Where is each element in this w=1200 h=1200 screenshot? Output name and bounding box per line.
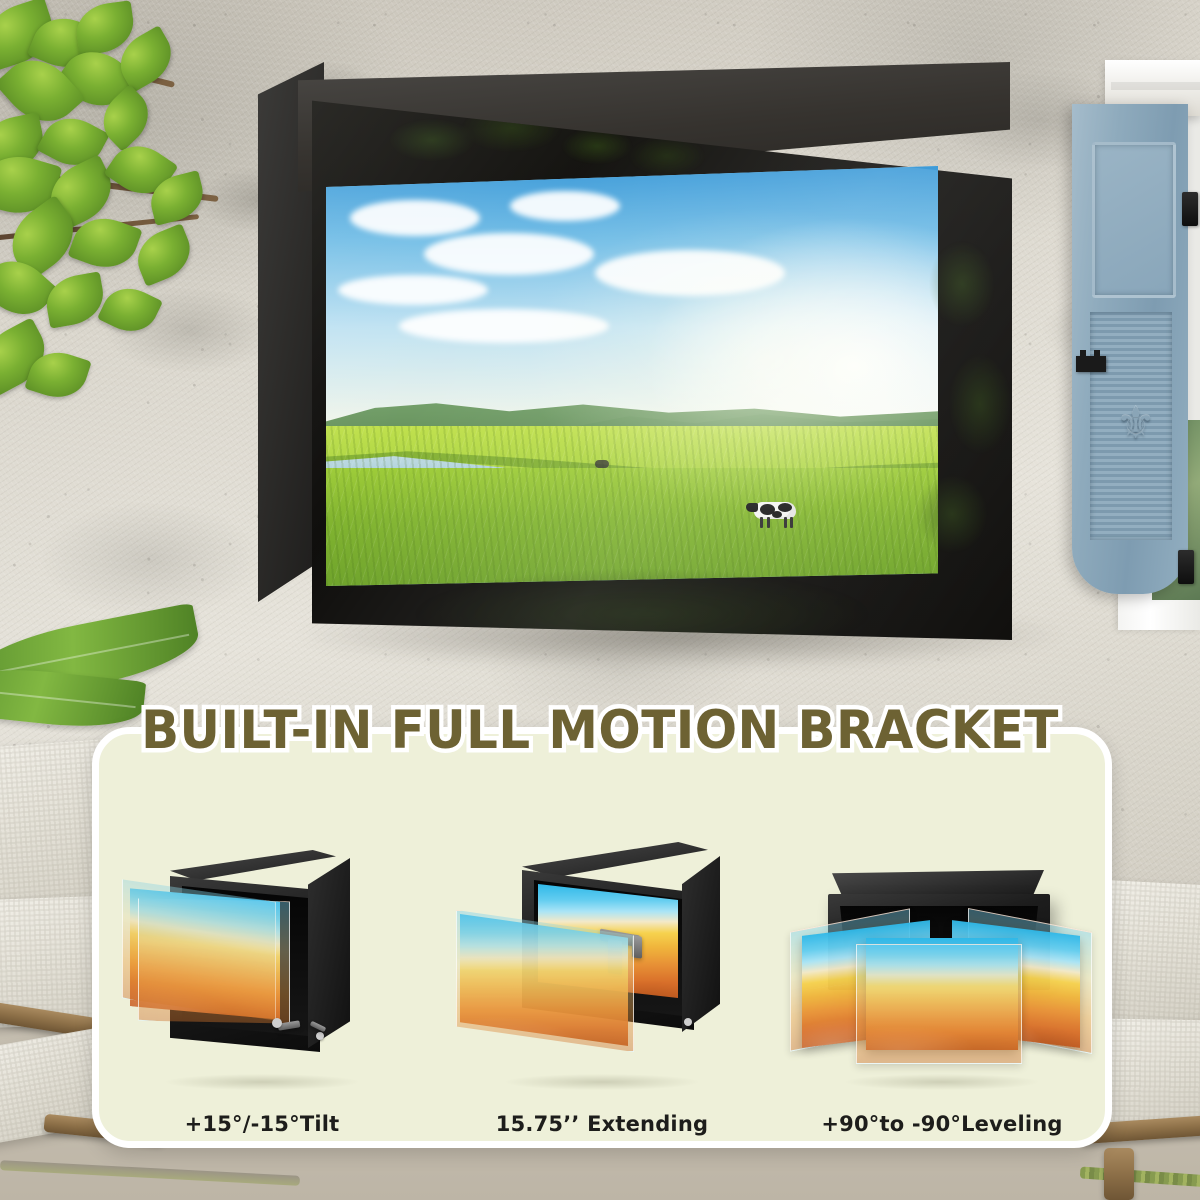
blue-window-shutter: ⚜ (1072, 104, 1188, 594)
tv-tilting-out-of-cabinet-diagram (112, 836, 412, 1086)
screen-cow (754, 502, 800, 528)
feature-item-tilt: +15°/-15°Tilt (92, 760, 432, 1148)
screen-distant-cow (595, 460, 609, 468)
feature-item-extending: 15.75’’ Extending (432, 760, 772, 1148)
outdoor-tv-enclosure (258, 62, 1006, 640)
feature-caption-extending: 15.75’’ Extending (496, 1112, 708, 1136)
feature-caption-tilt: +15°/-15°Tilt (185, 1112, 340, 1136)
tv-screen-display (326, 166, 938, 586)
feature-caption-leveling: +90°to -90°Leveling (821, 1112, 1062, 1136)
page-title: BUILT-IN FULL MOTION BRACKET (36, 700, 1164, 761)
feature-list: +15°/-15°Tilt 15.75’ (92, 760, 1112, 1148)
tv-swiveling-leveling-diagram (792, 836, 1092, 1086)
shutter-raised-panel (1092, 142, 1176, 298)
shutter-latch-hardware (1076, 356, 1106, 372)
tv-extending-from-cabinet-diagram (452, 836, 752, 1086)
fleur-de-lis-ornament-icon: ⚜ (1116, 402, 1148, 450)
screen-grass-texture (326, 426, 938, 586)
product-marketing-image: ⚜ (0, 0, 1200, 1200)
feature-item-leveling: +90°to -90°Leveling (772, 760, 1112, 1148)
shutter-hinge-top (1182, 192, 1198, 226)
shutter-hinge-bottom (1178, 550, 1194, 584)
